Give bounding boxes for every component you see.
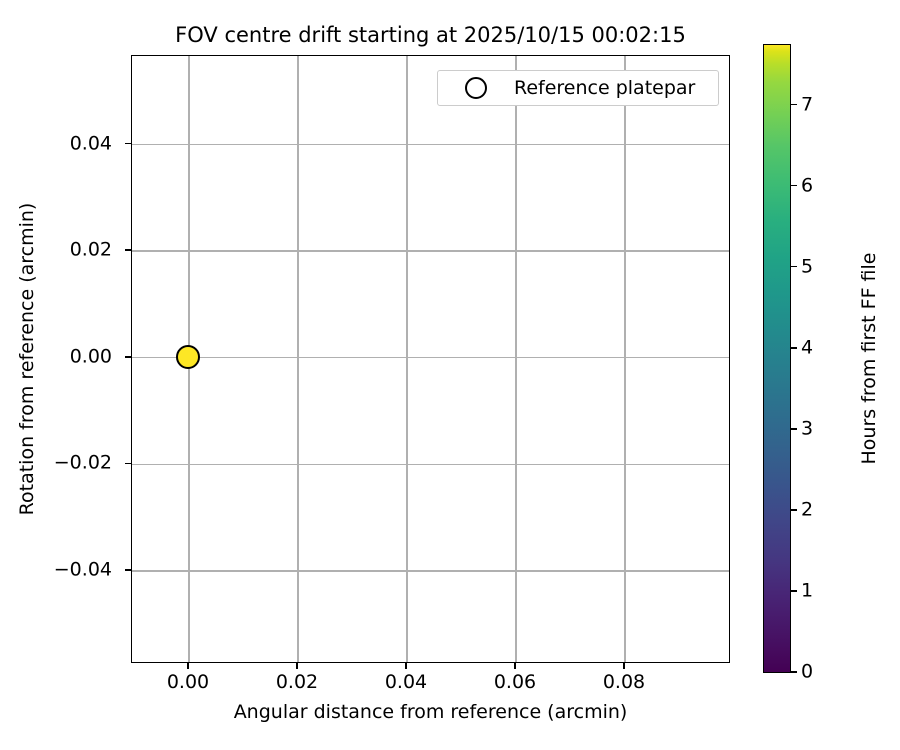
colorbar-tick-mark (791, 509, 797, 511)
y-tick-mark (125, 249, 131, 251)
legend-entry-label: Reference platepar (514, 77, 695, 100)
colorbar-tick-mark (791, 185, 797, 187)
colorbar-gradient (763, 44, 791, 673)
colorbar-tick-mark (791, 266, 797, 268)
x-tick-label: 0.02 (276, 671, 318, 694)
colorbar-tick-label: 6 (801, 174, 813, 197)
y-tick-mark (125, 569, 131, 571)
legend: Reference platepar (437, 70, 719, 106)
data-point-reference-platepar[interactable] (176, 345, 200, 369)
chart-figure: FOV centre drift starting at 2025/10/15 … (0, 0, 900, 750)
colorbar-tick-mark (791, 671, 797, 673)
gridline-horizontal (132, 357, 729, 358)
x-tick-mark (623, 663, 625, 669)
colorbar-label: Hours from first FF file (856, 44, 882, 673)
x-tick-label: 0.04 (385, 671, 427, 694)
colorbar-tick-label: 2 (801, 499, 813, 522)
gridline-horizontal (132, 144, 729, 145)
colorbar-tick-label: 4 (801, 336, 813, 359)
colorbar-tick-label: 5 (801, 255, 813, 278)
colorbar-tick-label: 7 (801, 93, 813, 116)
y-tick-label: 0.02 (70, 239, 112, 262)
colorbar (763, 44, 791, 673)
x-axis-label: Angular distance from reference (arcmin) (131, 700, 730, 724)
colorbar-tick-mark (791, 104, 797, 106)
chart-title: FOV centre drift starting at 2025/10/15 … (131, 22, 730, 48)
x-tick-mark (514, 663, 516, 669)
legend-marker-wrap (438, 77, 514, 99)
gridline-horizontal (132, 250, 729, 251)
x-tick-label: 0.00 (167, 671, 209, 694)
x-tick-mark (187, 663, 189, 669)
gridline-horizontal (132, 464, 729, 465)
colorbar-tick-mark (791, 347, 797, 349)
y-tick-mark (125, 143, 131, 145)
y-tick-mark (125, 463, 131, 465)
x-tick-mark (296, 663, 298, 669)
y-axis-label: Rotation from reference (arcmin) (14, 55, 40, 663)
x-tick-label: 0.06 (494, 671, 536, 694)
x-tick-label: 0.08 (603, 671, 645, 694)
y-tick-label: 0.04 (70, 132, 112, 155)
y-tick-label: −0.02 (54, 452, 112, 475)
y-tick-label: 0.00 (70, 345, 112, 368)
y-tick-label: −0.04 (54, 559, 112, 582)
x-tick-mark (405, 663, 407, 669)
y-tick-mark (125, 356, 131, 358)
colorbar-tick-label: 3 (801, 417, 813, 440)
colorbar-tick-label: 0 (801, 661, 813, 684)
gridline-horizontal (132, 570, 729, 571)
open-circle-icon (465, 77, 487, 99)
plot-inner (132, 56, 729, 662)
colorbar-tick-label: 1 (801, 580, 813, 603)
colorbar-tick-mark (791, 590, 797, 592)
colorbar-tick-mark (791, 428, 797, 430)
plot-area (131, 55, 730, 663)
